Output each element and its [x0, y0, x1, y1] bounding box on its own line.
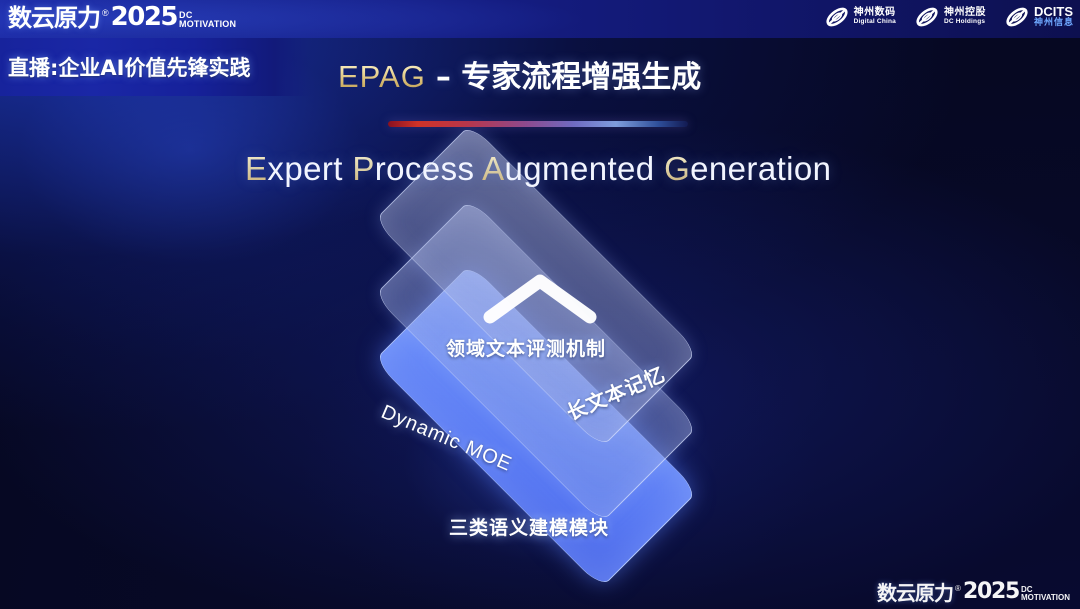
live-banner: 直播:企业AI价值先锋实践 — [0, 38, 312, 96]
partner-logo-dcits: DCITS 神州信息 — [1004, 4, 1074, 30]
partner-name-en: Digital China — [854, 19, 896, 26]
partner-name-en: DC Holdings — [944, 19, 986, 26]
partner-logo-text: 神州控股 DC Holdings — [944, 8, 986, 25]
watermark-motivation: MOTIVATION — [1021, 594, 1070, 602]
swirl-logo-icon — [824, 4, 850, 30]
subtitle-rest-generation: eneration — [690, 150, 831, 187]
brand-name-cn: 数云原力 — [8, 6, 100, 30]
title-chinese: – 专家流程增强生成 — [436, 52, 701, 96]
chevron-up-icon — [481, 272, 599, 331]
subtitle-cap-a: A — [482, 150, 504, 187]
subtitle-cap-g: G — [664, 150, 690, 187]
swirl-logo-icon — [1004, 4, 1030, 30]
subtitle-word-expert: Expert — [245, 150, 352, 187]
subtitle-word-process: Process — [352, 150, 482, 187]
live-banner-text: 直播:企业AI价值先锋实践 — [0, 52, 250, 82]
subtitle-rest-augmented: ugmented — [505, 150, 665, 187]
subtitle-rest-expert: xpert — [267, 150, 352, 187]
page-title: EPAG – 专家流程增强生成 — [338, 52, 701, 96]
partner-logo-group: 神州数码 Digital China 神州控股 DC Holdings — [824, 4, 1074, 30]
subtitle-word-augmented: Augmented — [482, 150, 664, 187]
diagram-label-bottom: 三类语义建模模块 — [449, 513, 609, 540]
swirl-logo-icon — [914, 4, 940, 30]
watermark-name-cn: 数云原力 — [877, 583, 953, 603]
watermark-dc-motivation: DC MOTIVATION — [1021, 586, 1070, 602]
watermark-year: 2025 — [963, 581, 1019, 603]
watermark-registered-mark: ® — [955, 585, 961, 593]
subtitle-cap-p: P — [352, 150, 374, 187]
watermark-logo: 数云原力 ® 2025 DC MOTIVATION — [877, 581, 1070, 603]
partner-logo-text: DCITS 神州信息 — [1034, 5, 1074, 28]
brand-registered-mark: ® — [102, 9, 109, 18]
partner-logo-dc-holdings: 神州控股 DC Holdings — [914, 4, 986, 30]
subtitle: Expert Process Augmented Generation — [245, 150, 831, 188]
subtitle-word-generation: Generation — [664, 150, 831, 187]
diagram-label-top: 领域文本评测机制 — [446, 334, 606, 361]
subtitle-cap-e: E — [245, 150, 267, 187]
partner-name-en: 神州信息 — [1034, 19, 1074, 29]
brand-motivation: MOTIVATION — [179, 20, 236, 29]
title-divider-rule — [388, 121, 688, 127]
subtitle-rest-process: rocess — [375, 150, 482, 187]
partner-logo-digital-china: 神州数码 Digital China — [824, 4, 896, 30]
brand-logo: 数云原力 ® 2025 DC MOTIVATION — [8, 4, 236, 30]
brand-dc-motivation: DC MOTIVATION — [179, 11, 236, 29]
title-acronym: EPAG — [338, 59, 426, 95]
partner-logo-text: 神州数码 Digital China — [854, 8, 896, 25]
slide-canvas: 数云原力 ® 2025 DC MOTIVATION 神州数码 Digital C… — [0, 0, 1080, 609]
brand-year: 2025 — [111, 4, 177, 30]
